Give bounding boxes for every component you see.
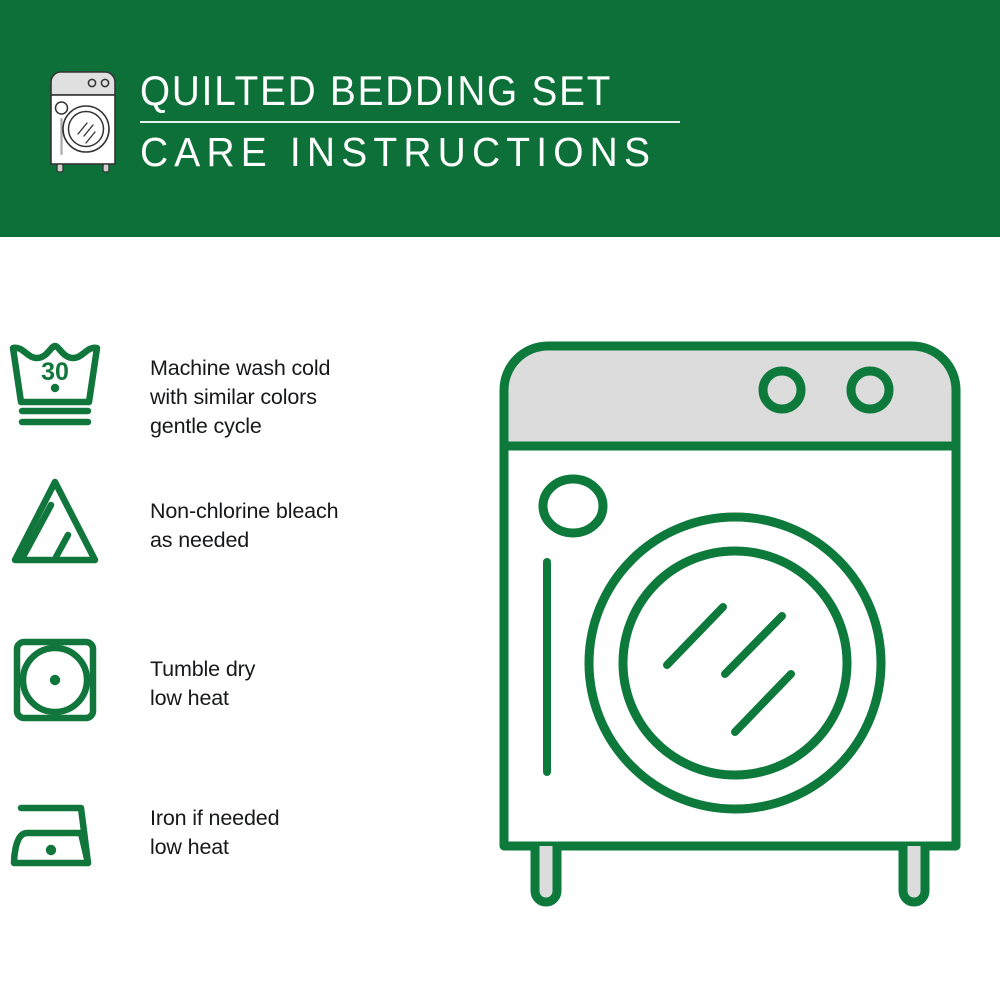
front-load-washing-machine-illustration: [495, 330, 965, 940]
care-item-label: Tumble dry low heat: [110, 627, 255, 713]
care-item-iron: Iron if needed low heat: [0, 782, 480, 882]
page-subtitle: CARE INSTRUCTIONS: [140, 129, 656, 175]
leg-right: [903, 846, 925, 902]
page-title: QUILTED BEDDING SET: [140, 68, 640, 114]
care-line: low heat: [150, 684, 255, 713]
care-line: Machine wash cold: [150, 354, 330, 383]
care-item-bleach: Non-chlorine bleach as needed: [0, 472, 480, 572]
care-instructions-page: QUILTED BEDDING SET CARE INSTRUCTIONS: [0, 0, 1000, 1000]
care-item-machine-wash: 30 Machine wash cold with similar colors…: [0, 332, 480, 441]
care-item-label: Non-chlorine bleach as needed: [110, 472, 338, 555]
care-line: as needed: [150, 526, 338, 555]
care-line: Tumble dry: [150, 655, 255, 684]
care-line: gentle cycle: [150, 412, 330, 441]
non-chlorine-bleach-icon: [0, 472, 110, 572]
machine-wash-30-gentle-icon: 30: [0, 332, 110, 432]
care-instruction-list: 30 Machine wash cold with similar colors…: [0, 237, 500, 1000]
care-item-tumble-dry: Tumble dry low heat: [0, 627, 480, 727]
header-title-block: QUILTED BEDDING SET CARE INSTRUCTIONS: [140, 66, 683, 175]
header-content: QUILTED BEDDING SET CARE INSTRUCTIONS: [46, 66, 683, 175]
care-line: low heat: [150, 833, 279, 862]
care-line: Iron if needed: [150, 804, 279, 833]
care-line: with similar colors: [150, 383, 330, 412]
machine-body: [504, 446, 956, 846]
washing-machine-icon: [46, 66, 120, 174]
care-item-label: Iron if needed low heat: [110, 782, 279, 862]
header-band: QUILTED BEDDING SET CARE INSTRUCTIONS: [0, 0, 1000, 237]
title-divider: [140, 121, 680, 123]
tumble-dry-low-heat-icon: [0, 627, 110, 727]
care-line: Non-chlorine bleach: [150, 497, 338, 526]
wash-temperature-label: 30: [41, 358, 69, 386]
iron-low-heat-icon: [0, 782, 110, 882]
leg-left: [535, 846, 557, 902]
care-item-label: Machine wash cold with similar colors ge…: [110, 332, 330, 441]
